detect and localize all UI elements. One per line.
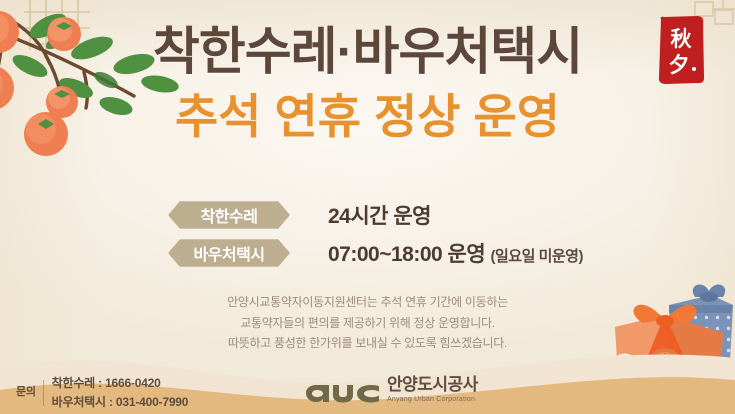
service-badge-voucher-taxi: 바우처택시: [168, 239, 290, 267]
logo-name-ko: 안양도시공사: [387, 376, 478, 393]
svg-text:夕: 夕: [669, 53, 690, 77]
logo-name-en: Anyang Urban Corporation: [387, 396, 478, 403]
contact-numbers: 착한수레 : 1666-0420 바우처택시 : 031-400-7990: [52, 374, 189, 413]
persimmon-branch-icon: [0, 0, 199, 167]
service-hours-value: 07:00~18:00 운영: [328, 243, 485, 266]
service-hours-voucher-taxi: 07:00~18:00 운영 (일요일 미운영): [328, 238, 583, 268]
service-hours-chakhan-sure: 24시간 운영: [328, 200, 431, 230]
contact-voucher-taxi: 바우처택시 : 031-400-7990: [52, 393, 189, 412]
chuseok-announcement-banner: 秋 夕 착한수레·바우처택시 추석 연휴 정상 운영 착한수레 24시간 운영 …: [0, 0, 735, 414]
contact-label: 문의: [16, 374, 43, 399]
contact-divider: [43, 380, 44, 406]
logo-text-block: 안양도시공사 Anyang Urban Corporation: [387, 376, 478, 403]
service-row: 착한수레 24시간 운영: [0, 196, 735, 234]
contact-block: 문의 착한수레 : 1666-0420 바우처택시 : 031-400-7990: [16, 374, 188, 413]
svg-text:秋: 秋: [671, 27, 693, 51]
contact-chakhan-sure: 착한수레 : 1666-0420: [52, 374, 189, 393]
service-hours-note: (일요일 미운영): [491, 248, 583, 265]
chuseok-seal-icon: 秋 夕: [655, 14, 707, 86]
service-badge-chakhan-sure: 착한수레: [168, 201, 290, 229]
footer-bar: 문의 착한수레 : 1666-0420 바우처택시 : 031-400-7990…: [0, 370, 735, 414]
auc-logo-icon: [305, 377, 381, 403]
organization-logo: 안양도시공사 Anyang Urban Corporation: [305, 376, 478, 403]
